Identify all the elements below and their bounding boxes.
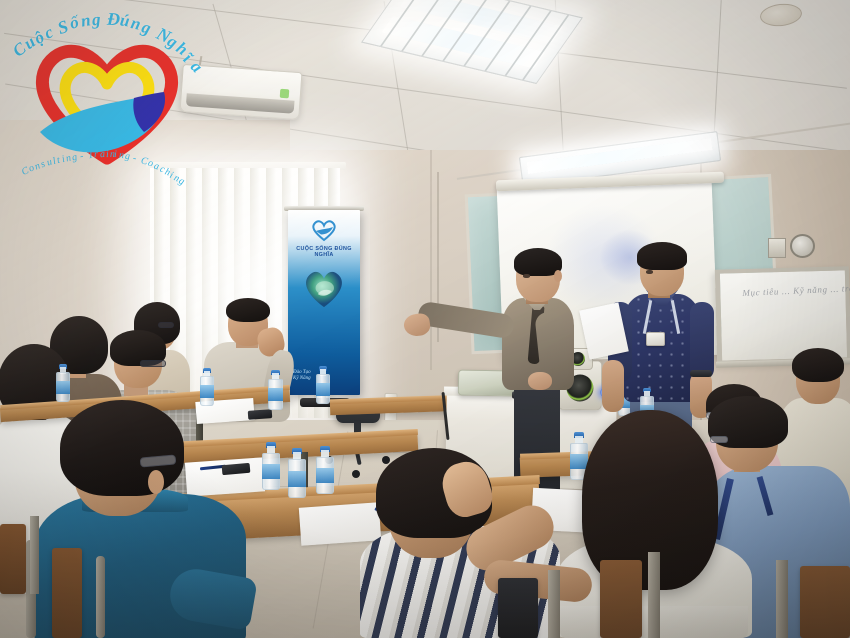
wm-char: Đ [106, 9, 120, 31]
wall-electrical-box [768, 238, 786, 258]
seminar-photograph: Mục tiêu ... Kỹ năng ... trên CUỘC SỐNG … [0, 0, 850, 638]
presenter2-id-badge [646, 332, 665, 346]
presenter-eye [523, 274, 530, 278]
presenter-extended-arm [417, 301, 516, 340]
wall-clock-icon [790, 234, 815, 258]
standee-logo-icon [309, 218, 339, 242]
water-bottle [316, 446, 334, 494]
attendee-hair [60, 400, 184, 496]
watermark-logo: C u ộ c S ố n g Đ ú n g N g h ĩ a [8, 2, 198, 187]
wm-char: n [129, 13, 143, 35]
presenter2-right-arm [690, 302, 714, 380]
standee-title: CUỘC SỐNG ĐÚNG NGHĨA [288, 246, 360, 258]
presenter2-hair [637, 242, 687, 270]
presenter2-left-forearm [602, 360, 624, 412]
whiteboard-handwriting: Mục tiêu ... Kỹ năng ... trên [742, 283, 846, 298]
phone [248, 409, 273, 420]
attendee-glasses-icon [140, 360, 166, 367]
wm-char: n [79, 10, 91, 31]
wm-char: ố [68, 12, 81, 33]
attendee-hair [226, 298, 270, 322]
water-bottle [316, 366, 330, 404]
attendee-hair [792, 348, 844, 382]
wm-tag-char: C [20, 165, 31, 178]
attendee-glasses-icon [158, 322, 174, 328]
water-bottle [288, 448, 306, 498]
water-bottle [268, 370, 283, 410]
ac-led-icon [280, 89, 290, 99]
wm-tag-char: i [168, 170, 175, 181]
heart-bird-logo-icon [22, 36, 192, 166]
water-bottle [262, 442, 280, 490]
attendee-ear [148, 470, 164, 494]
wm-char: g [91, 10, 101, 31]
wm-tag-char: n [172, 172, 181, 184]
presenter2-eye [646, 270, 653, 274]
wm-tag-char: h [163, 166, 171, 178]
presenter-ear [554, 270, 562, 282]
wm-char: ú [119, 10, 131, 31]
wm-tag-char: g [177, 175, 186, 187]
office-chair-wheel [352, 470, 360, 478]
presenter2-wristwatch [690, 370, 712, 377]
presenter-near-hand [528, 372, 552, 390]
ac-vent [186, 93, 295, 114]
